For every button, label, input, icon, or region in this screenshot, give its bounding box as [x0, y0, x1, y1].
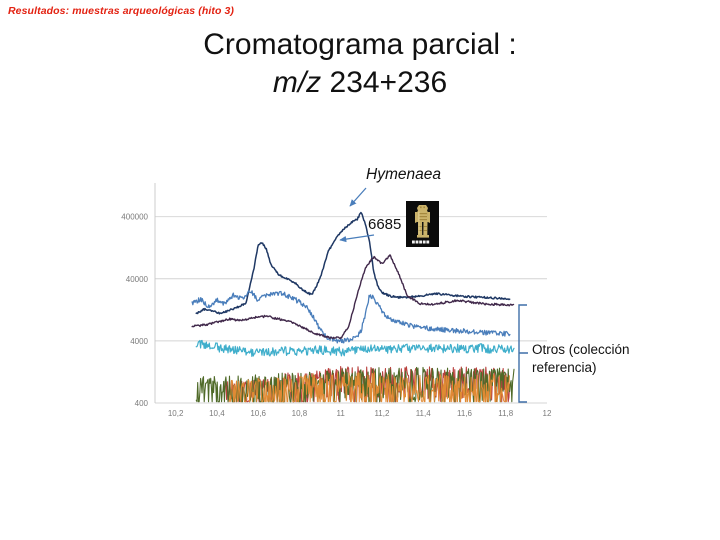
y-tick-label: 40000: [126, 275, 149, 284]
x-axis-tick-labels: 10,210,410,610,81111,211,411,611,812: [168, 409, 552, 418]
label-hymenaea: Hymenaea: [366, 166, 441, 184]
mz-italic: m/z: [273, 66, 321, 99]
chart-traces: [192, 213, 514, 402]
section-banner: Resultados: muestras arqueológicas (hito…: [8, 5, 234, 17]
title-line-2: m/z 234+236: [0, 64, 720, 102]
otros-line-2: referencia): [532, 359, 712, 377]
chart-gridlines: [155, 183, 547, 403]
mz-values: 234+236: [321, 66, 447, 99]
x-tick-label: 11: [337, 409, 346, 418]
x-tick-label: 10,2: [168, 409, 184, 418]
chart-series-line: [196, 340, 514, 356]
x-tick-label: 12: [543, 409, 552, 418]
y-axis-tick-labels: 400000400004000400: [121, 213, 148, 408]
label-sample-id: 6685: [368, 216, 401, 233]
x-tick-label: 11,8: [498, 409, 514, 418]
label-otros-referencia: Otros (colección referencia): [532, 341, 712, 377]
chromatogram-chart: 400000400004000400 10,210,410,610,81111,…: [0, 150, 720, 430]
x-tick-label: 10,4: [209, 409, 225, 418]
y-tick-label: 400: [135, 399, 149, 408]
page-title: Cromatograma parcial : m/z 234+236: [0, 26, 720, 103]
slide-canvas: Resultados: muestras arqueológicas (hito…: [0, 0, 720, 540]
chart-svg: 400000400004000400 10,210,410,610,81111,…: [0, 150, 720, 430]
x-tick-label: 11,2: [374, 409, 390, 418]
x-tick-label: 11,4: [416, 409, 432, 418]
title-line-1: Cromatograma parcial :: [0, 26, 720, 64]
gold-figurine-photo: [406, 201, 439, 247]
y-tick-label: 400000: [121, 213, 148, 222]
arrow-hymenaea-icon: [350, 188, 366, 206]
x-tick-label: 11,6: [457, 409, 473, 418]
figurine-drawing: [406, 201, 439, 247]
x-tick-label: 10,8: [292, 409, 308, 418]
y-tick-label: 4000: [130, 337, 148, 346]
x-tick-label: 10,6: [250, 409, 266, 418]
bracket-otros-icon: [519, 305, 528, 402]
otros-line-1: Otros (colección: [532, 341, 712, 359]
